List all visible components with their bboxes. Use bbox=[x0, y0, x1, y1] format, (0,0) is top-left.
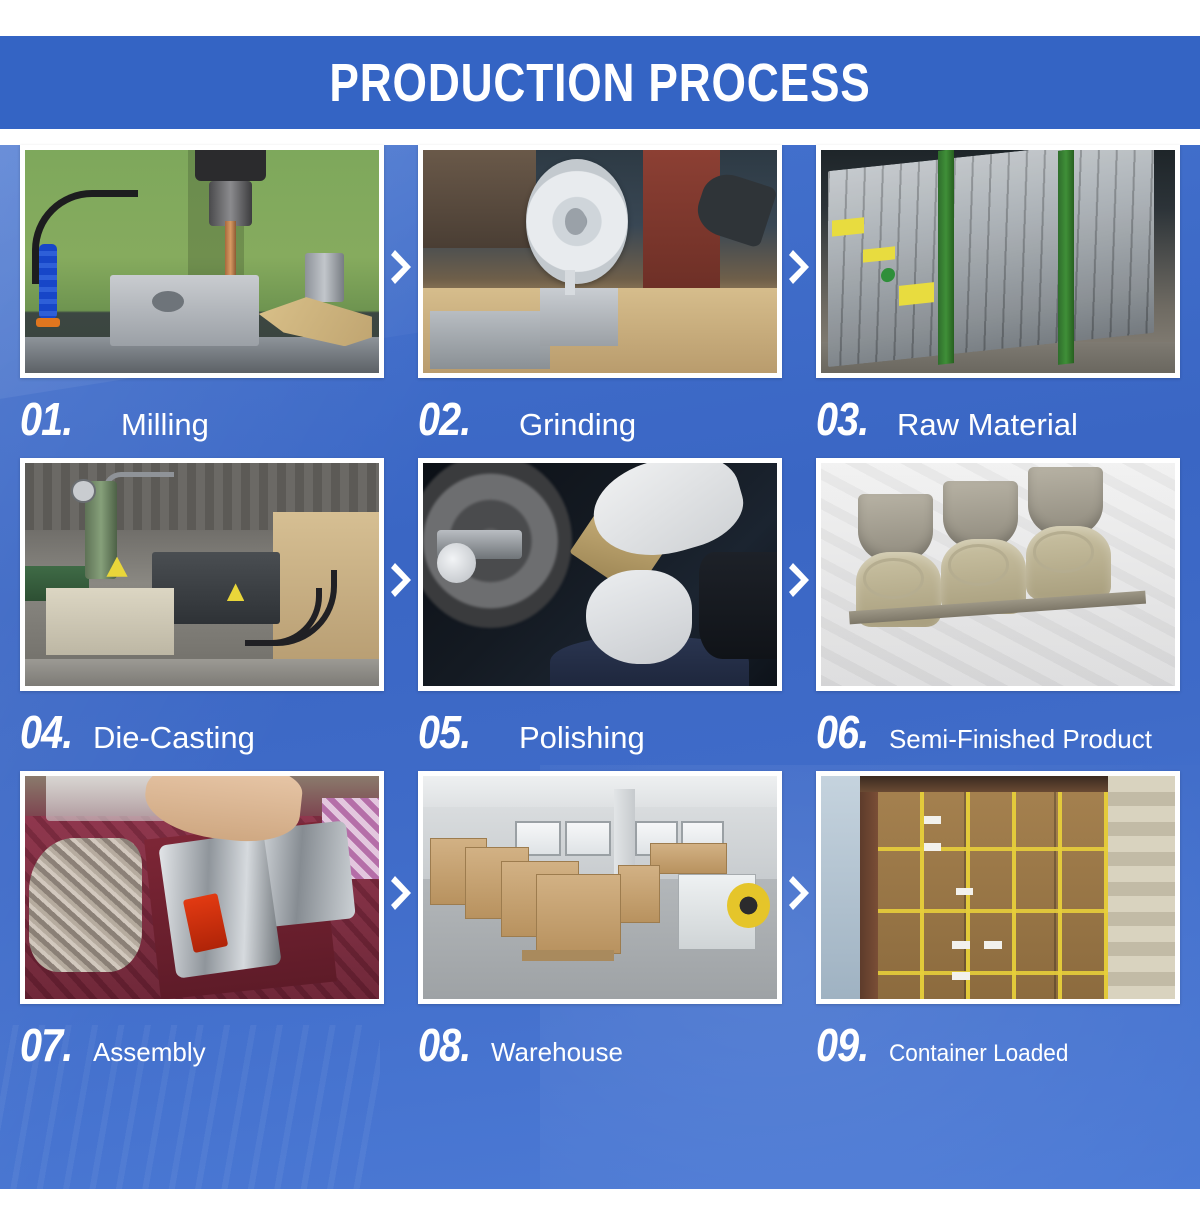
process-step-card-7[interactable]: 07. Assembly bbox=[20, 771, 384, 1082]
step-photo-frame bbox=[816, 771, 1180, 1004]
step-photo-container-loaded bbox=[821, 776, 1175, 999]
process-step-card-1[interactable]: 01. Milling bbox=[20, 145, 384, 456]
step-label: Semi-Finished Product bbox=[889, 726, 1152, 752]
step-number: 05. bbox=[418, 705, 470, 759]
page-title: PRODUCTION PROCESS bbox=[329, 52, 870, 114]
process-step-card-6[interactable]: 06. Semi-Finished Product bbox=[816, 458, 1180, 769]
step-number: 01. bbox=[20, 392, 72, 446]
step-number: 03. bbox=[816, 392, 868, 446]
process-grid: 01. Milling 02. Grinding bbox=[0, 145, 1200, 1084]
step-photo-frame bbox=[816, 145, 1180, 378]
step-number: 08. bbox=[418, 1018, 470, 1072]
process-row-2: 04. Die-Casting 05. Polishing bbox=[0, 458, 1200, 771]
step-photo-frame bbox=[418, 145, 782, 378]
step-caption: 04. Die-Casting bbox=[20, 691, 384, 769]
process-step-card-9[interactable]: 09. Container Loaded bbox=[816, 771, 1180, 1082]
step-caption: 05. Polishing bbox=[418, 691, 782, 769]
step-photo-frame bbox=[20, 458, 384, 691]
step-photo-warehouse bbox=[423, 776, 777, 999]
step-label: Grinding bbox=[519, 409, 636, 440]
step-photo-polishing bbox=[423, 463, 777, 686]
chevron-right-icon bbox=[784, 556, 818, 604]
step-photo-semi-finished bbox=[821, 463, 1175, 686]
step-label: Die-Casting bbox=[93, 722, 255, 753]
step-photo-grinding bbox=[423, 150, 777, 373]
chevron-right-icon bbox=[784, 869, 818, 917]
step-photo-raw-material bbox=[821, 150, 1175, 373]
step-photo-die-casting bbox=[25, 463, 379, 686]
step-caption: 09. Container Loaded bbox=[816, 1004, 1180, 1082]
step-caption: 08. Warehouse bbox=[418, 1004, 782, 1082]
step-label: Milling bbox=[121, 409, 209, 440]
step-photo-frame bbox=[20, 145, 384, 378]
process-step-card-4[interactable]: 04. Die-Casting bbox=[20, 458, 384, 769]
step-label: Polishing bbox=[519, 722, 645, 753]
process-step-card-3[interactable]: 03. Raw Material bbox=[816, 145, 1180, 456]
process-step-card-5[interactable]: 05. Polishing bbox=[418, 458, 782, 769]
production-process-infographic: PRODUCTION PROCESS 01. Mill bbox=[0, 0, 1200, 1225]
chevron-right-icon bbox=[386, 556, 420, 604]
step-caption: 06. Semi-Finished Product bbox=[816, 691, 1180, 769]
header-banner: PRODUCTION PROCESS bbox=[0, 36, 1200, 129]
step-label: Assembly bbox=[93, 1039, 206, 1065]
step-photo-assembly bbox=[25, 776, 379, 999]
step-photo-frame bbox=[816, 458, 1180, 691]
process-row-3: 07. Assembly 08. bbox=[0, 771, 1200, 1084]
step-label: Container Loaded bbox=[889, 1042, 1068, 1066]
step-caption: 03. Raw Material bbox=[816, 378, 1180, 456]
step-photo-frame bbox=[418, 771, 782, 1004]
step-photo-milling bbox=[25, 150, 379, 373]
step-number: 04. bbox=[20, 705, 72, 759]
step-label: Warehouse bbox=[491, 1039, 623, 1065]
step-number: 02. bbox=[418, 392, 470, 446]
process-row-1: 01. Milling 02. Grinding bbox=[0, 145, 1200, 458]
step-photo-frame bbox=[418, 458, 782, 691]
step-number: 09. bbox=[816, 1018, 868, 1072]
chevron-right-icon bbox=[386, 869, 420, 917]
step-photo-frame bbox=[20, 771, 384, 1004]
step-caption: 07. Assembly bbox=[20, 1004, 384, 1082]
chevron-right-icon bbox=[386, 243, 420, 291]
step-number: 07. bbox=[20, 1018, 72, 1072]
step-number: 06. bbox=[816, 705, 868, 759]
step-caption: 01. Milling bbox=[20, 378, 384, 456]
step-caption: 02. Grinding bbox=[418, 378, 782, 456]
process-step-card-8[interactable]: 08. Warehouse bbox=[418, 771, 782, 1082]
chevron-right-icon bbox=[784, 243, 818, 291]
step-label: Raw Material bbox=[897, 409, 1078, 440]
process-step-card-2[interactable]: 02. Grinding bbox=[418, 145, 782, 456]
